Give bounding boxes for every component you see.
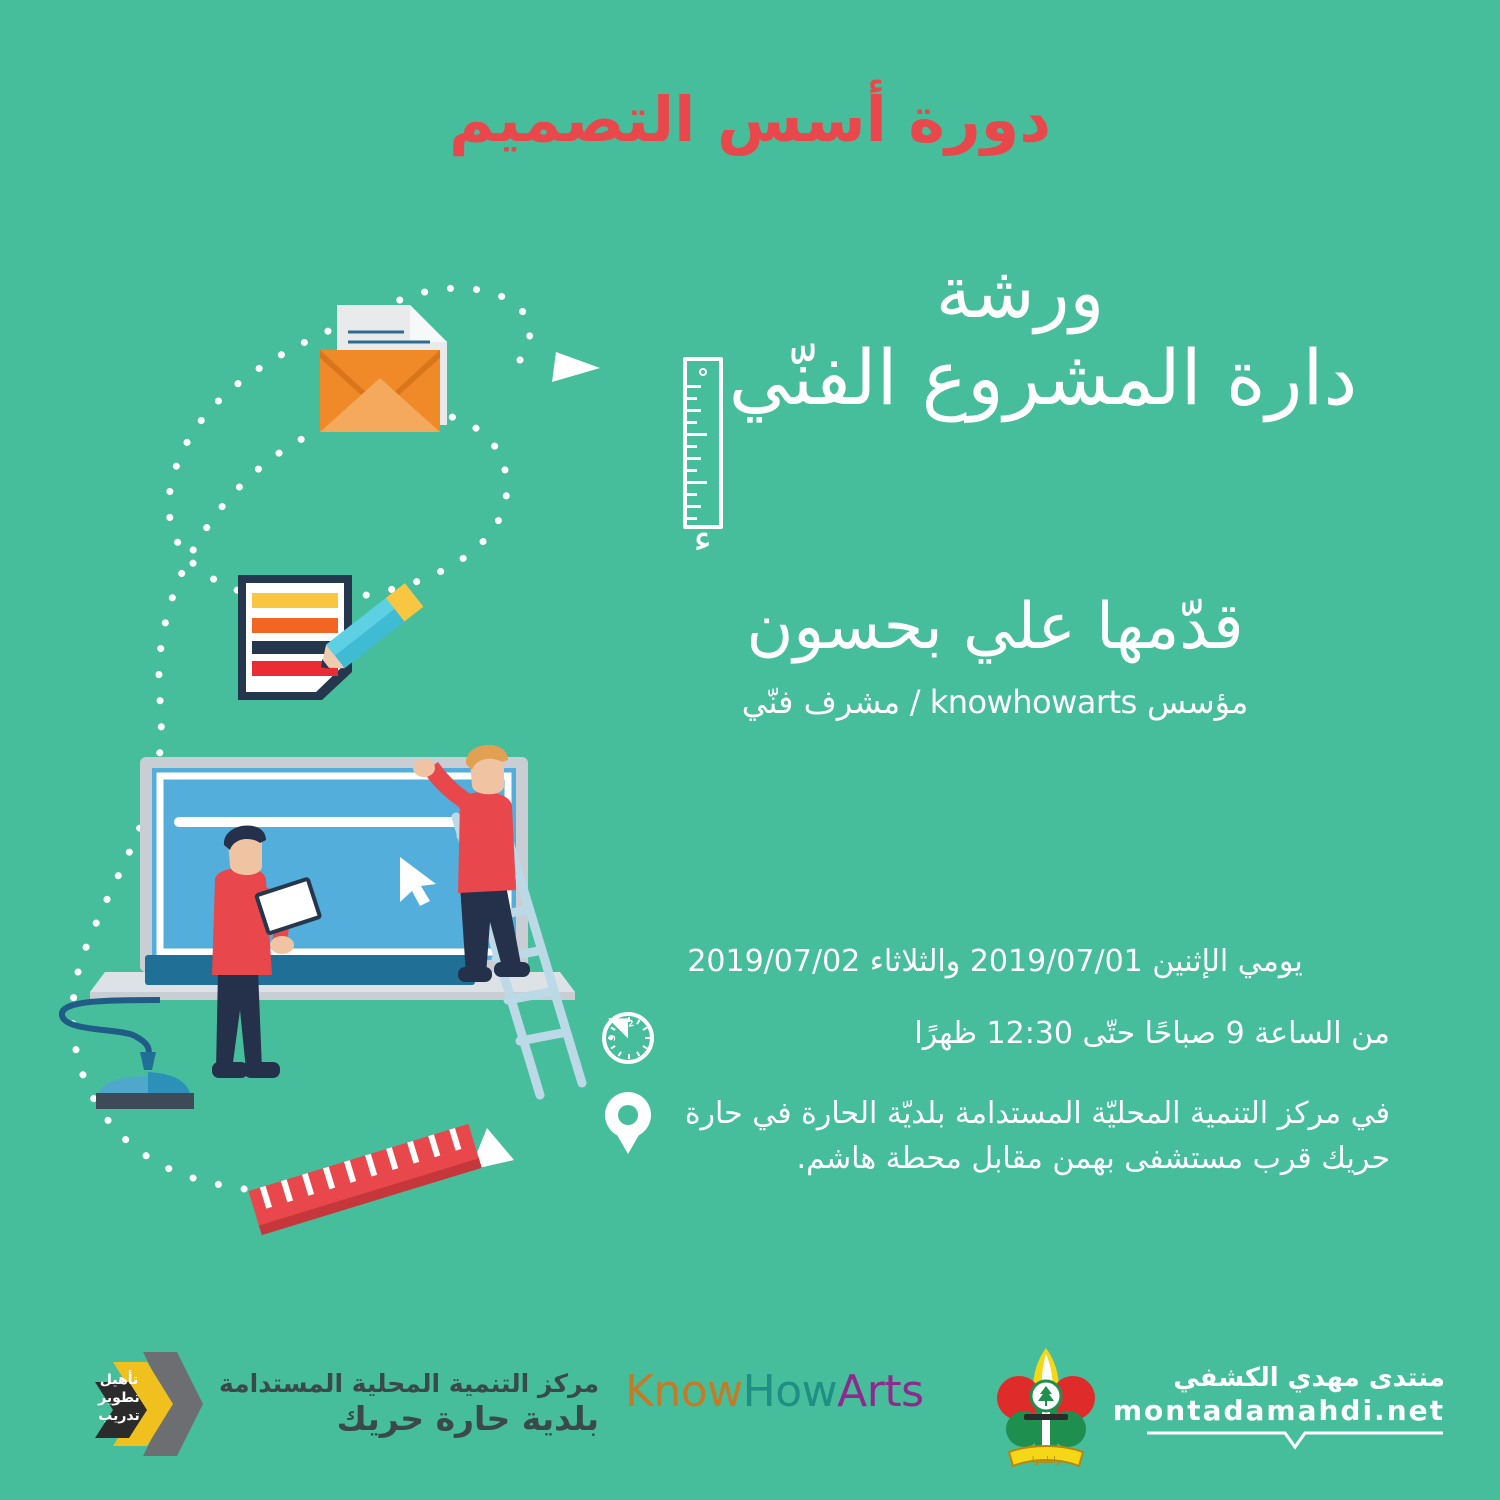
chevron-mark-icon: تأهيل تطوير تدريب — [85, 1348, 205, 1460]
event-location-text: في مركز التنمية المحليّة المستدامة بلديّ… — [674, 1092, 1390, 1181]
laptop-illustration — [90, 757, 575, 1000]
event-location-row: في مركز التنمية المحليّة المستدامة بلديّ… — [600, 1092, 1390, 1181]
heading-line-1: ورشة — [610, 255, 1430, 331]
logo-haret-hreik[interactable]: مركز التنمية المحلية المستدامة بلدية حار… — [85, 1348, 599, 1460]
logo-montadamahdi[interactable]: منتدى مهدي الكشفي montadamahdi.net — [991, 1344, 1445, 1474]
person-with-tablet — [212, 825, 323, 1078]
logo-know-part: Know — [625, 1366, 743, 1417]
logo-knowhowarts[interactable]: KnowHowArts — [625, 1366, 924, 1417]
presenter-block: قدّمها علي بحسون مؤسس knowhowarts / مشرف… — [610, 592, 1380, 722]
notepad-pencil-icon — [238, 575, 423, 700]
event-info-block: يومي الإثنين 2019/07/01 والثلاثاء 2019/0… — [600, 940, 1390, 1181]
logo-left-line-1: مركز التنمية المحلية المستدامة — [219, 1370, 599, 1399]
underline-bracket — [1145, 1431, 1445, 1451]
event-date-row: يومي الإثنين 2019/07/01 والثلاثاء 2019/0… — [600, 940, 1390, 984]
arrow-head-bottom — [470, 1128, 514, 1170]
event-date-text: يومي الإثنين 2019/07/01 والثلاثاء 2019/0… — [600, 940, 1390, 984]
svg-text:واطيعوا: واطيعوا — [1032, 1456, 1060, 1466]
ladder — [456, 805, 582, 1095]
cursor-arrow — [400, 857, 436, 906]
svg-text:تدريب: تدريب — [98, 1408, 139, 1424]
heading-line-2: دارة المشروع الفنّي — [729, 333, 1358, 423]
clock-label-12: 12 — [621, 1019, 635, 1031]
illustration-artwork — [0, 0, 1500, 1500]
person-on-ladder — [413, 745, 530, 982]
workshop-heading: ورشة دارة المشروع الفنّي ء — [610, 255, 1430, 555]
footer: مركز التنمية المحلية المستدامة بلدية حار… — [0, 1330, 1500, 1500]
logo-how-part: How — [743, 1366, 838, 1417]
event-time-text: من الساعة 9 صباحًا حتّى 12:30 ظهرًا — [674, 1012, 1390, 1056]
svg-text:تأهيل: تأهيل — [100, 1370, 138, 1388]
presenter-role: مؤسس knowhowarts / مشرف فنّي — [610, 682, 1380, 722]
course-title: دورة أسس التصميم — [0, 86, 1500, 154]
logo-arts-part: Arts — [837, 1366, 923, 1417]
event-time-row: من الساعة 9 صباحًا حتّى 12:30 ظهرًا — [600, 1012, 1390, 1064]
presenter-name: قدّمها علي بحسون — [610, 592, 1380, 662]
logo-right-line-1: منتدى مهدي الكشفي — [1113, 1363, 1445, 1394]
clock-icon: 12 9 — [600, 1012, 656, 1064]
map-pin-icon — [600, 1092, 656, 1154]
logo-left-line-2: بلدية حارة حريك — [219, 1400, 599, 1438]
poster-canvas: دورة أسس التصميم ورشة دارة المشروع الفنّ… — [0, 0, 1500, 1500]
ruler-alef-icon: ء — [683, 357, 723, 555]
red-ruler — [248, 1124, 481, 1235]
hamza-glyph: ء — [693, 519, 712, 559]
clock-label-9: 9 — [608, 1034, 619, 1042]
arrow-head-top — [552, 352, 600, 382]
open-envelope-icon — [320, 305, 447, 432]
logo-right-line-2: montadamahdi.net — [1113, 1394, 1445, 1428]
dotted-path — [73, 288, 530, 1193]
svg-text:تطوير: تطوير — [97, 1390, 140, 1406]
scout-emblem-icon: واطيعوا — [991, 1344, 1101, 1474]
desk-lamp — [62, 1000, 194, 1109]
